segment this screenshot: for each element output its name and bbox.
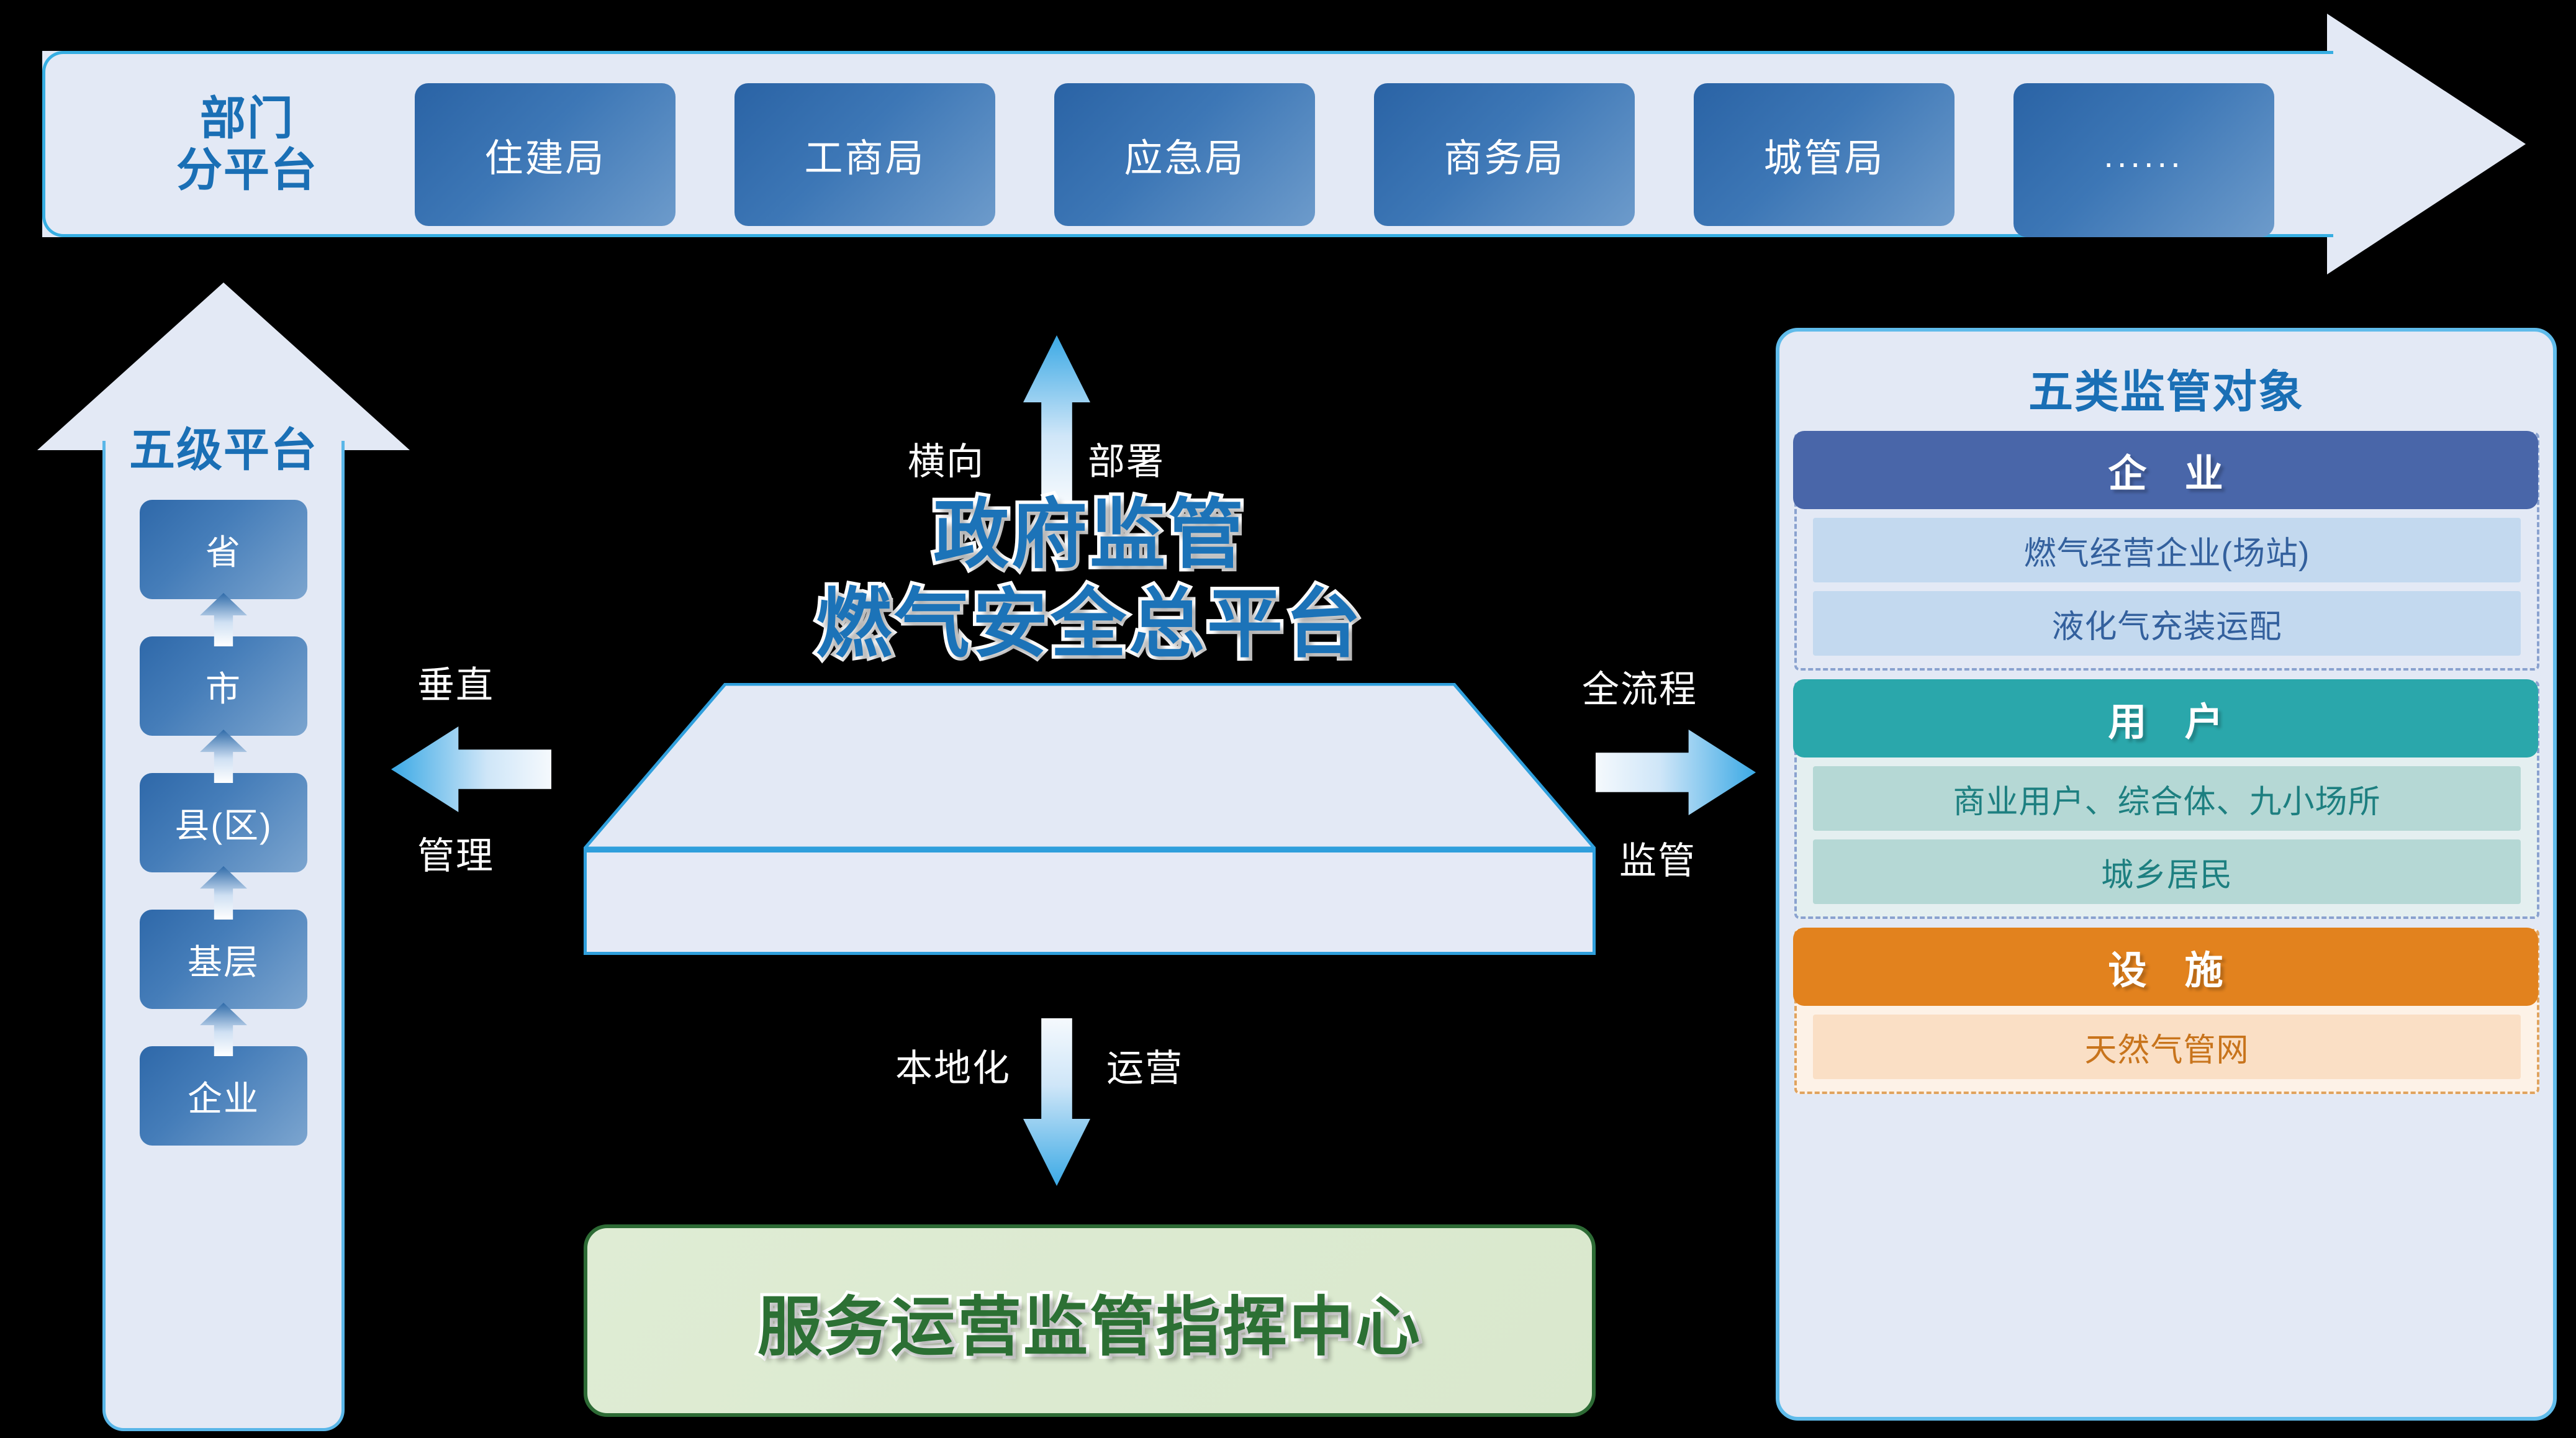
- supervision-objects-panel: 五类监管对象 企 业 燃气经营企业(场站) 液化气充装运配 用 户 商业用户、综…: [1776, 328, 2557, 1421]
- flow-label-vertical: 垂直: [417, 655, 494, 709]
- five-level-item-city[interactable]: 市: [140, 636, 307, 736]
- platform-title-line1: 政府监管: [584, 491, 1596, 580]
- flow-label-manage: 管理: [417, 826, 494, 880]
- supervision-item-natural-gas-pipeline-network[interactable]: 天然气管网: [1813, 1015, 2521, 1079]
- supervision-group-user: 用 户 商业用户、综合体、九小场所 城乡居民: [1794, 681, 2539, 919]
- department-platform-label: 部门 分平台: [142, 73, 353, 216]
- supervision-item-commercial-users[interactable]: 商业用户、综合体、九小场所: [1813, 766, 2521, 831]
- platform-top-face: [584, 683, 1596, 851]
- supervision-group-header-user[interactable]: 用 户: [1793, 679, 2538, 757]
- department-box-more[interactable]: ......: [2013, 83, 2274, 237]
- platform-title: 政府监管 燃气安全总平台: [584, 491, 1596, 669]
- department-box-urban-management[interactable]: 城管局: [1694, 83, 1955, 226]
- supervision-panel-title: 五类监管对象: [1779, 355, 2553, 420]
- arrow-down-icon-operate: [1023, 1018, 1090, 1186]
- five-level-item-county[interactable]: 县(区): [140, 773, 307, 872]
- arrow-left-icon-manage: [391, 726, 551, 812]
- department-box-housing[interactable]: 住建局: [415, 83, 676, 226]
- five-level-connector-1: [140, 599, 307, 636]
- platform-front-face: [584, 849, 1596, 955]
- arrow-right-icon-supervise: [1596, 730, 1756, 815]
- flow-label-operate: 运营: [1106, 1038, 1183, 1092]
- department-list: 住建局 工商局 应急局 商务局 城管局 ......: [415, 83, 2274, 237]
- five-level-item-grassroots[interactable]: 基层: [140, 910, 307, 1009]
- supervision-items-enterprise: 燃气经营企业(场站) 液化气充装运配: [1797, 509, 2537, 668]
- supervision-group-header-enterprise[interactable]: 企 业: [1793, 431, 2538, 509]
- supervision-group-enterprise: 企 业 燃气经营企业(场站) 液化气充装运配: [1794, 432, 2539, 671]
- supervision-items-user: 商业用户、综合体、九小场所 城乡居民: [1797, 757, 2537, 916]
- department-platform-label-line2: 分平台: [176, 145, 318, 196]
- five-level-item-enterprise[interactable]: 企业: [140, 1046, 307, 1146]
- supervision-group-list: 企 业 燃气经营企业(场站) 液化气充装运配 用 户 商业用户、综合体、九小场所…: [1794, 432, 2539, 1104]
- five-level-connector-4: [140, 1009, 307, 1046]
- five-level-item-list: 省 市 县(区) 基层 企业: [140, 500, 307, 1146]
- supervision-item-gas-operating-enterprise[interactable]: 燃气经营企业(场站): [1813, 518, 2521, 582]
- supervision-group-header-facility[interactable]: 设 施: [1793, 928, 2538, 1006]
- service-operation-command-center-label: 服务运营监管指挥中心: [757, 1274, 1422, 1368]
- five-level-item-province[interactable]: 省: [140, 500, 307, 599]
- service-operation-command-center-box[interactable]: 服务运营监管指挥中心: [584, 1224, 1596, 1417]
- flow-label-deploy: 部署: [1088, 432, 1165, 486]
- flow-label-full-process: 全流程: [1582, 659, 1697, 713]
- department-box-business[interactable]: 商务局: [1374, 83, 1635, 226]
- supervision-group-facility: 设 施 天然气管网: [1794, 929, 2539, 1094]
- supervision-item-lpg-filling-distribution[interactable]: 液化气充装运配: [1813, 591, 2521, 656]
- five-level-platform-title: 五级平台: [37, 413, 410, 479]
- supervision-item-urban-rural-residents[interactable]: 城乡居民: [1813, 839, 2521, 904]
- five-level-connector-3: [140, 872, 307, 910]
- arrow-up-icon-deploy: [1023, 335, 1090, 503]
- supervision-items-facility: 天然气管网: [1797, 1006, 2537, 1092]
- platform-title-line2: 燃气安全总平台: [584, 580, 1596, 669]
- central-platform-shape: [584, 683, 1596, 956]
- department-box-commerce-industry[interactable]: 工商局: [734, 83, 995, 226]
- department-box-emergency[interactable]: 应急局: [1054, 83, 1315, 226]
- flow-label-supervise: 监管: [1619, 831, 1696, 885]
- flow-label-horizontal: 横向: [908, 432, 985, 486]
- five-level-platform-arrow: 五级平台 省 市 县(区) 基层 企业: [37, 283, 410, 1431]
- department-platform-label-line1: 部门: [200, 93, 294, 145]
- five-level-connector-2: [140, 736, 307, 773]
- department-platform-banner: 部门 分平台 住建局 工商局 应急局 商务局 城管局 ......: [42, 14, 2526, 274]
- flow-label-localized: 本地化: [895, 1038, 1011, 1092]
